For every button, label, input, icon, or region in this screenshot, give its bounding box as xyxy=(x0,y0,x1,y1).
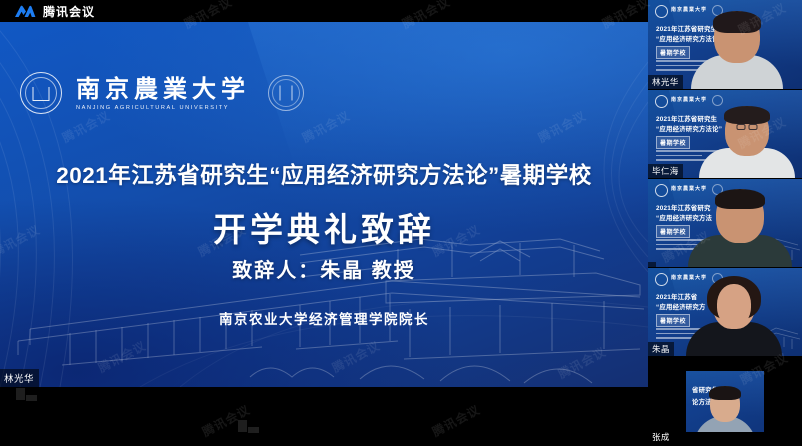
participant-video-person xyxy=(670,104,802,178)
presentation-slide: 南京農業大学 NANJING AGRICULTURAL UNIVERSITY 2… xyxy=(0,22,648,387)
person-face xyxy=(717,284,751,326)
tile-letterbox-top xyxy=(648,357,802,371)
participant-name-label: 朱晶 xyxy=(648,342,674,356)
bottom-corner-glyph-icon xyxy=(238,420,260,440)
app-name-label: 腾讯会议 xyxy=(43,3,95,20)
self-view-name-badge: 林光华 xyxy=(0,369,39,388)
slide-speaker-affiliation: 南京农业大学经济管理学院院长 xyxy=(0,308,648,328)
participant-video-person xyxy=(657,276,802,356)
participant-video-person xyxy=(663,189,802,267)
participant-tile[interactable]: 南京農業大学 2021年江苏省研究生 “应用经济研究方法论” 暑期学校 林光华 xyxy=(648,0,802,89)
participant-tile[interactable]: 省研究生 论方法 张成 xyxy=(648,356,802,446)
university-logo-row: 南京農業大学 NANJING AGRICULTURAL UNIVERSITY xyxy=(20,72,304,114)
university-name: 南京農業大学 NANJING AGRICULTURAL UNIVERSITY xyxy=(76,76,250,111)
participant-tile-active-speaker[interactable]: 南京農業大学 2021年江苏省研究 “应用经济研究方法 暑期学校 xyxy=(648,178,802,267)
person-glasses-icon xyxy=(736,124,757,130)
tile-university-name: 南京農業大学 xyxy=(671,96,707,103)
university-name-en: NANJING AGRICULTURAL UNIVERSITY xyxy=(76,105,250,111)
person-hair xyxy=(709,386,741,400)
university-name-cn: 南京農業大学 xyxy=(76,74,250,103)
tencent-meeting-window: 腾讯会议 xyxy=(0,0,802,446)
participant-video-grid[interactable]: 南京農業大学 2021年江苏省研究生 “应用经济研究方法论” 暑期学校 林光华 … xyxy=(648,0,802,446)
slide-speaker-line: 致辞人：朱晶 教授 xyxy=(0,254,648,283)
participant-name-label: 林光华 xyxy=(648,75,683,89)
person-hair xyxy=(724,106,770,124)
participant-name-label: 毕仁海 xyxy=(648,164,683,178)
slide-title-line1: 2021年江苏省研究生“应用经济研究方法论”暑期学校 xyxy=(0,158,648,190)
participant-tile[interactable]: 南京農業大学 2021年江苏省 “应用经济研究方 暑期学校 xyxy=(648,267,802,356)
person-hair xyxy=(715,189,765,209)
tencent-meeting-logo-icon xyxy=(14,5,36,18)
tile-university-seal-icon xyxy=(655,5,668,18)
screen-corner-glyph-icon xyxy=(16,388,38,408)
participant-name-label: 张成 xyxy=(648,430,674,444)
person-hair xyxy=(713,11,761,33)
tile-university-seal-icon xyxy=(655,95,668,108)
university-secondary-seal-icon xyxy=(268,75,304,111)
tile-university-name: 南京農業大学 xyxy=(671,6,707,13)
university-seal-icon xyxy=(20,72,62,114)
slide-title-line2: 开学典礼致辞 xyxy=(0,203,648,251)
app-titlebar: 腾讯会议 xyxy=(0,0,648,22)
shared-screen-area[interactable]: 南京農業大学 NANJING AGRICULTURAL UNIVERSITY 2… xyxy=(0,22,648,446)
participant-tile[interactable]: 南京農業大学 2021年江苏省研究生 “应用经济研究方法论” 暑期学校 毕仁海 xyxy=(648,89,802,178)
